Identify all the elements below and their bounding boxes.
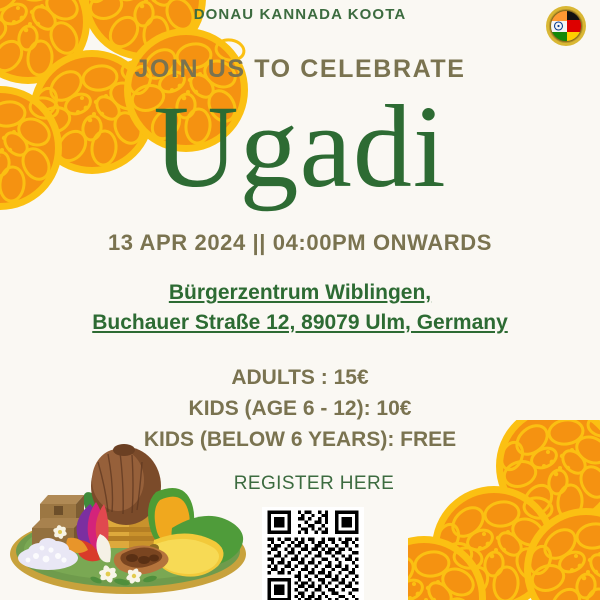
organization-name: DONAU KANNADA KOOTA — [0, 6, 600, 23]
page-title: Ugadi — [0, 88, 600, 206]
price-row: KIDS (AGE 6 - 12): 10€ — [0, 394, 600, 425]
ugadi-event-poster: DONAU KANNADA KOOTA JOIN US TO CELEBRATE… — [0, 0, 600, 600]
event-venue: Bürgerzentrum Wiblingen, Buchauer Straße… — [0, 278, 600, 338]
ugadi-festive-platter-icon — [4, 432, 252, 600]
event-datetime: 13 APR 2024 || 04:00PM ONWARDS — [0, 230, 600, 256]
venue-line-2: Buchauer Straße 12, 89079 Ulm, Germany — [0, 308, 600, 338]
venue-line-1: Bürgerzentrum Wiblingen, — [0, 278, 600, 308]
qr-code-icon[interactable] — [262, 507, 364, 600]
price-row: ADULTS : 15€ — [0, 363, 600, 394]
invite-line: JOIN US TO CELEBRATE — [0, 55, 600, 84]
